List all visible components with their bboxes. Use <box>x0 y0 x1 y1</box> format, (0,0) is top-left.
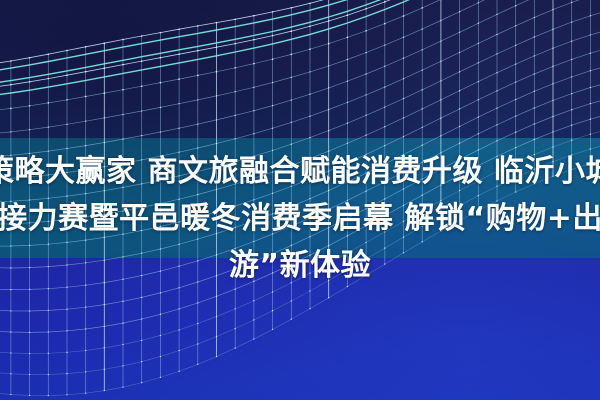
background-band-navy <box>0 0 600 138</box>
background-band-royal-blue <box>0 258 600 400</box>
background-band-teal <box>0 138 600 258</box>
banner-image: 策略大赢家 商文旅融合赋能消费升级 临沂小城接力赛暨平邑暖冬消费季启幕 解锁“购… <box>0 0 600 400</box>
